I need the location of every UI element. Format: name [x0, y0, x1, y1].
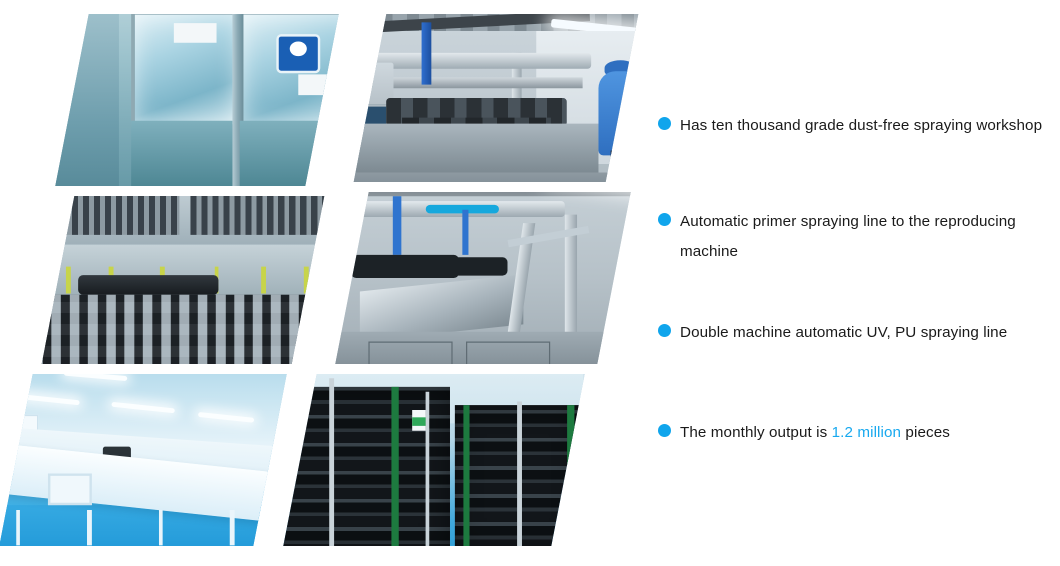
bullet-item-4: The monthly output is 1.2 million pieces — [658, 418, 1058, 448]
bullet-item-1-text: Has ten thousand grade dust-free sprayin… — [680, 111, 1042, 141]
bullet-dot-icon — [658, 424, 671, 437]
feature-bullet-list: Has ten thousand grade dust-free sprayin… — [652, 0, 1060, 566]
photo-spray-booth-scene — [42, 196, 325, 364]
bullet-item-2: Automatic primer spraying line to the re… — [658, 207, 1060, 267]
bullet-item-4-prefix: The monthly output is — [680, 424, 832, 441]
photo-robot-spray-line — [354, 14, 639, 182]
factory-photo-collage — [0, 0, 650, 566]
bullet-item-3-text: Double machine automatic UV, PU spraying… — [680, 318, 1007, 348]
bullet-item-1: Has ten thousand grade dust-free sprayin… — [658, 111, 1058, 141]
bullet-dot-icon — [658, 324, 671, 337]
photo-air-shower-door-scene — [55, 14, 338, 186]
photo-air-shower-door — [55, 14, 338, 186]
bullet-item-2-text: Automatic primer spraying line to the re… — [680, 207, 1060, 267]
photo-clean-room-conveyor — [0, 374, 287, 546]
photo-uv-pu-line-scene — [335, 192, 630, 364]
bullet-item-4-highlight: 1.2 million — [832, 424, 901, 441]
bullet-item-4-text: The monthly output is 1.2 million pieces — [680, 418, 950, 448]
bullet-item-3: Double machine automatic UV, PU spraying… — [658, 318, 1058, 348]
page-root: Has ten thousand grade dust-free sprayin… — [0, 0, 1060, 566]
photo-robot-spray-line-scene — [354, 14, 639, 182]
photo-spray-booth — [42, 196, 325, 364]
photo-uv-pu-line — [335, 192, 630, 364]
bullet-dot-icon — [658, 213, 671, 226]
photo-parts-racks-scene — [283, 374, 584, 546]
photo-clean-room-conveyor-scene — [0, 374, 287, 546]
photo-parts-racks — [283, 374, 584, 546]
bullet-dot-icon — [658, 117, 671, 130]
bullet-item-4-suffix: pieces — [901, 424, 950, 441]
